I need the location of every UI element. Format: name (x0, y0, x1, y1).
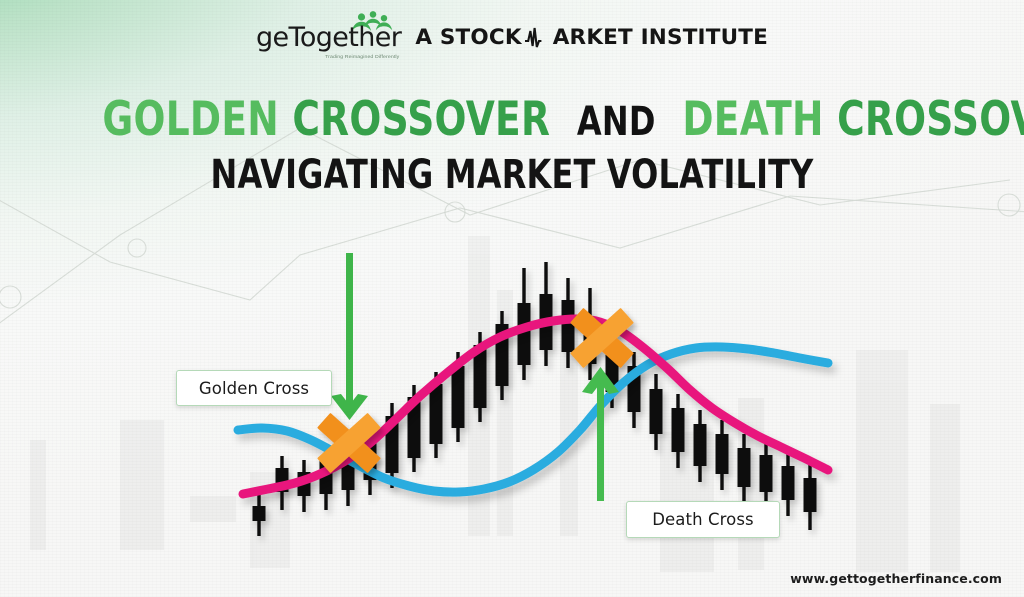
institute-name-prefix: A STOCK (415, 25, 521, 50)
candle-body (562, 300, 575, 352)
title-word-crossover-2: CROSSOVER: (837, 92, 1024, 147)
candle-body (738, 448, 751, 487)
title-word-golden: GOLDEN (102, 92, 279, 147)
death-cross-arrow-icon (582, 367, 619, 501)
candle-body (804, 478, 817, 512)
death-cross-callout: Death Cross (626, 501, 780, 538)
candle-body (253, 506, 266, 521)
page-title: GOLDEN CROSSOVER AND DEATH CROSSOVER: (102, 96, 921, 143)
candle-body (672, 408, 685, 452)
logo-wordmark-text: geTogether (256, 22, 401, 53)
golden-cross-callout: Golden Cross (176, 370, 332, 406)
candle-body (694, 424, 707, 466)
logo-tagline: Trading Reimagined Differently (325, 54, 399, 60)
market-pulse-waveform-icon (524, 26, 554, 50)
golden-cross-arrow-icon (331, 253, 368, 420)
getogether-logo: geTogether Trading Reimagined Differentl… (256, 24, 401, 51)
website-url: www.gettogetherfinance.com (790, 571, 1002, 586)
logo-wordmark: geTogether (256, 24, 401, 51)
candle-body (430, 384, 443, 444)
candlestick-chart (0, 200, 1024, 560)
candle-body (716, 434, 729, 474)
candle-body (782, 466, 795, 500)
poster-canvas: geTogether Trading Reimagined Differentl… (0, 0, 1024, 597)
candle-body (760, 455, 773, 492)
candle-body (650, 389, 663, 434)
institute-name: A STOCK ARKET INSTITUTE (415, 25, 768, 50)
title-word-death: DEATH (682, 92, 823, 147)
golden-cross-callout-label: Golden Cross (199, 379, 309, 398)
candle-body (452, 366, 465, 428)
brand-header: geTogether Trading Reimagined Differentl… (0, 24, 1024, 51)
institute-name-suffix: ARKET INSTITUTE (553, 25, 768, 50)
death-cross-callout-label: Death Cross (652, 510, 753, 529)
title-word-crossover-1: CROSSOVER (292, 92, 550, 147)
page-subtitle: NAVIGATING MARKET VOLATILITY (102, 155, 921, 195)
title-word-and: AND (577, 99, 656, 145)
